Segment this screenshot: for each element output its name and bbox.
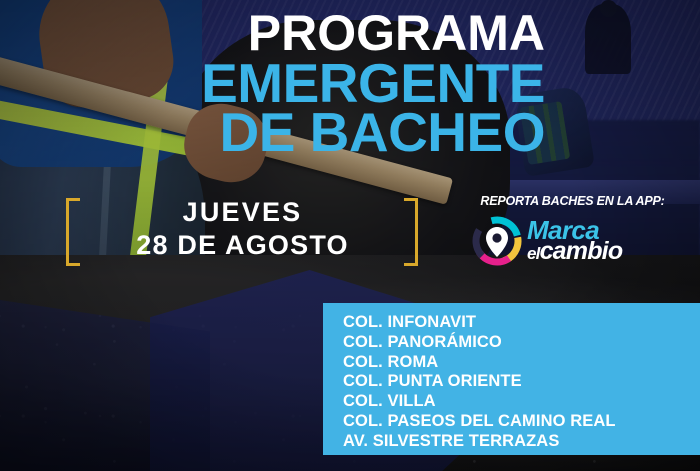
zone-list-item: COL. PASEOS DEL CAMINO REAL	[343, 412, 700, 432]
event-day-of-week: JUEVES	[90, 198, 395, 226]
zone-list-item: COL. ROMA	[343, 353, 700, 373]
map-pin-logo-icon	[471, 215, 523, 267]
headline-line-3: DE BACHEO	[0, 107, 545, 158]
headline-line-1: PROGRAMA	[0, 10, 545, 56]
app-promo-kicker: REPORTA BACHES EN LA APP:	[465, 194, 680, 208]
zone-list-item: COL. INFONAVIT	[343, 313, 700, 333]
headline: PROGRAMA EMERGENTE DE BACHEO	[0, 10, 545, 157]
event-date-value: 28 DE AGOSTO	[90, 231, 395, 259]
app-logo-word-elcambio: elcambio	[527, 240, 622, 263]
app-logo-word-el: el	[527, 244, 540, 263]
event-date: JUEVES 28 DE AGOSTO	[90, 198, 395, 260]
zone-list-item: COL. VILLA	[343, 392, 700, 412]
app-logo-word-cambio: cambio	[540, 237, 623, 265]
app-logo: Marca elcambio	[471, 215, 680, 267]
bracket-left-icon	[66, 198, 80, 266]
zone-list-item: COL. PUNTA ORIENTE	[343, 372, 700, 392]
bracket-right-icon	[404, 198, 418, 266]
zone-list-panel: COL. INFONAVIT COL. PANORÁMICO COL. ROMA…	[323, 303, 700, 455]
poster-content: PROGRAMA EMERGENTE DE BACHEO JUEVES 28 D…	[0, 0, 700, 471]
app-promo: REPORTA BACHES EN LA APP:	[465, 194, 680, 267]
zone-list-item: AV. SILVESTRE TERRAZAS	[343, 432, 700, 452]
zone-list-item: COL. PANORÁMICO	[343, 333, 700, 353]
app-logo-wordmark: Marca elcambio	[527, 219, 622, 263]
poster-canvas: PROGRAMA EMERGENTE DE BACHEO JUEVES 28 D…	[0, 0, 700, 471]
